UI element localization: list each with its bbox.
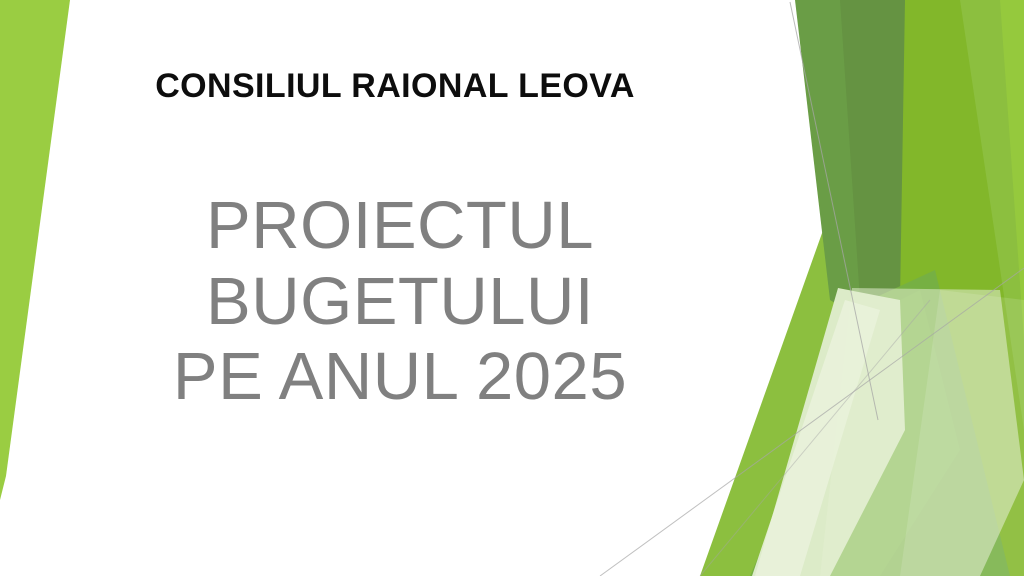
title-line-1: PROIECTUL (0, 188, 800, 264)
presentation-slide: CONSILIUL RAIONAL LEOVA PROIECTUL BUGETU… (0, 0, 1024, 576)
slide-heading: CONSILIUL RAIONAL LEOVA (0, 68, 790, 105)
title-line-3: PE ANUL 2025 (0, 339, 800, 415)
slide-title: PROIECTUL BUGETULUI PE ANUL 2025 (0, 188, 800, 415)
slide-content: CONSILIUL RAIONAL LEOVA PROIECTUL BUGETU… (0, 0, 1024, 576)
title-line-2: BUGETULUI (0, 264, 800, 340)
